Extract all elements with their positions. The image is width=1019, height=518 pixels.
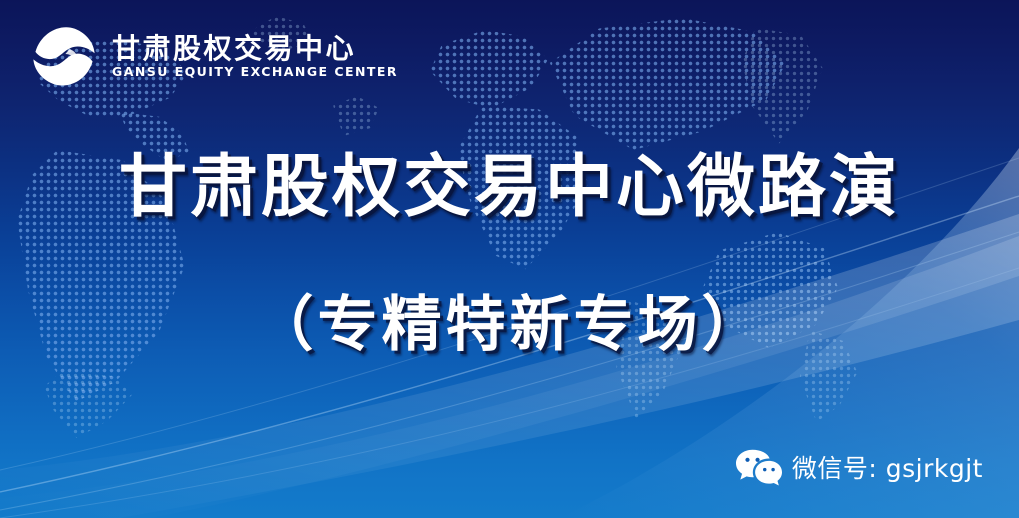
map-region-asia (540, 18, 786, 150)
event-title: 甘肃股权交易中心微路演 (0, 150, 1019, 226)
org-name-en: GANSU EQUITY EXCHANGE CENTER (112, 65, 398, 78)
gansu-equity-exchange-logo-icon (30, 22, 98, 90)
map-region-south-america-tail (44, 372, 140, 438)
brand-header: 甘肃股权交易中心 GANSU EQUITY EXCHANGE CENTER (30, 22, 398, 90)
subhead-container: （专精特新专场） (0, 292, 1019, 359)
map-region-asia-east (742, 28, 826, 146)
wechat-id-label: 微信号: gsjrkgjt (792, 449, 983, 485)
wechat-icon (736, 448, 782, 486)
event-subtitle: （专精特新专场） (0, 292, 1019, 359)
map-region-islands-mid (330, 96, 382, 136)
brand-text: 甘肃股权交易中心 GANSU EQUITY EXCHANGE CENTER (112, 34, 398, 79)
map-region-europe (430, 30, 548, 112)
org-name-cn: 甘肃股权交易中心 (112, 34, 398, 63)
headline-container: 甘肃股权交易中心微路演 (0, 150, 1019, 226)
wechat-contact: 微信号: gsjrkgjt (736, 448, 983, 486)
promotional-banner: 甘肃股权交易中心 GANSU EQUITY EXCHANGE CENTER 甘肃… (0, 0, 1019, 518)
